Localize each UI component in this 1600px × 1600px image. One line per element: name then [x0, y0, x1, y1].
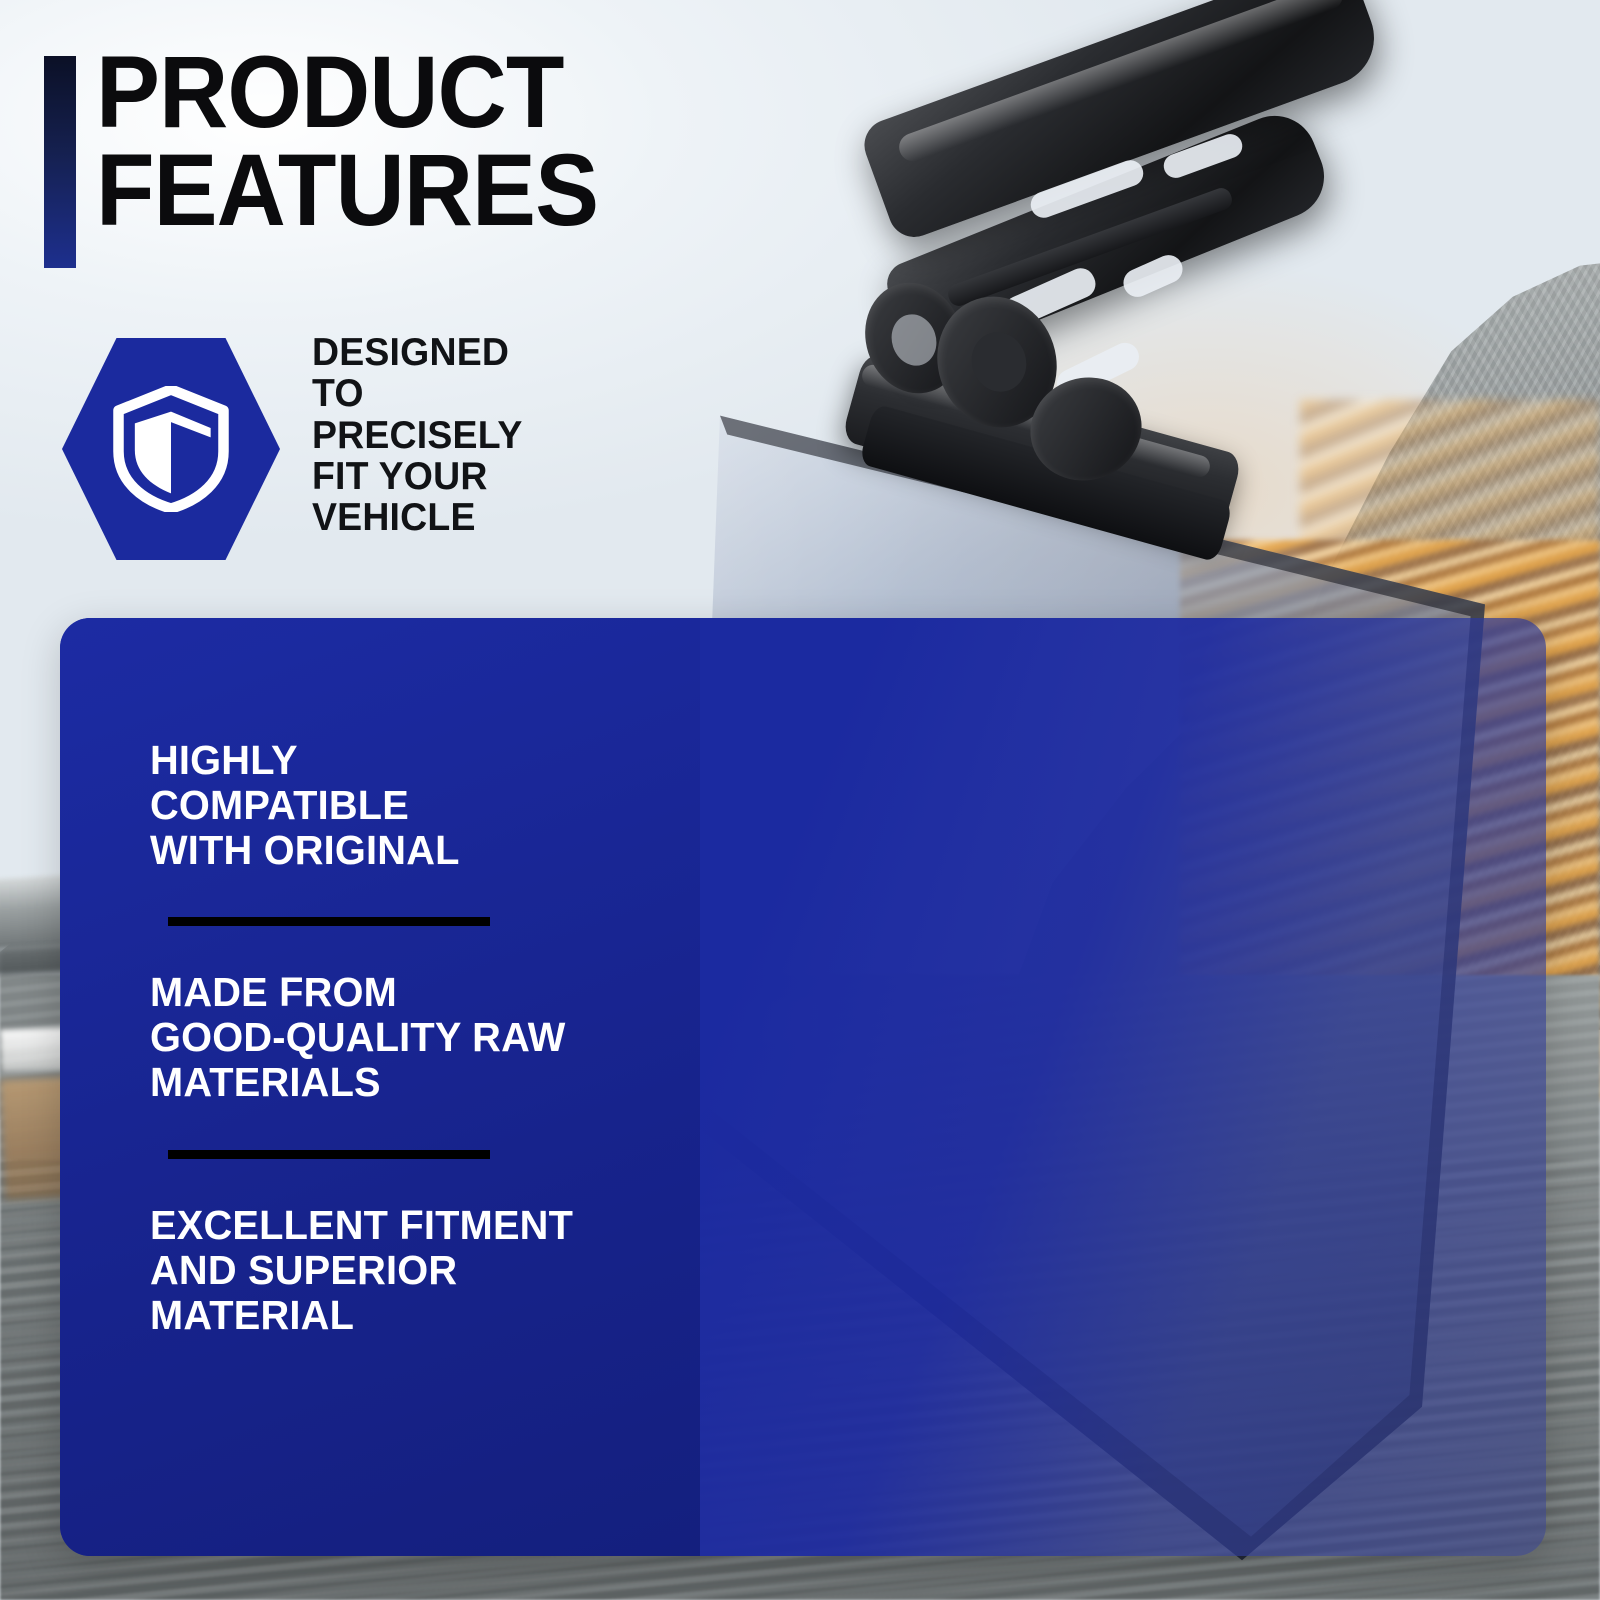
- badge-text: DESIGNED TO PRECISELY FIT YOUR VEHICLE: [312, 332, 629, 539]
- feature-2-line-2: GOOD-QUALITY RAW: [150, 1015, 693, 1060]
- feature-item-1: HIGHLY COMPATIBLE WITH ORIGINAL: [150, 738, 693, 873]
- infographic-canvas: PRODUCT FEATURES DESIGNED TO PRECISELY F…: [0, 0, 1600, 1600]
- shield-icon: [112, 386, 230, 512]
- feature-2-line-3: MATERIALS: [150, 1060, 693, 1105]
- feature-2-line-1: MADE FROM: [150, 970, 693, 1015]
- feature-item-2: MADE FROM GOOD-QUALITY RAW MATERIALS: [150, 970, 693, 1105]
- badge-line-1: DESIGNED: [312, 332, 629, 373]
- page-title-line-1: PRODUCT: [96, 35, 563, 149]
- feature-divider: [168, 917, 490, 926]
- feature-3-line-1: EXCELLENT FITMENT: [150, 1203, 693, 1248]
- feature-1-line-1: HIGHLY: [150, 738, 693, 783]
- feature-1-line-3: WITH ORIGINAL: [150, 828, 693, 873]
- feature-item-3: EXCELLENT FITMENT AND SUPERIOR MATERIAL: [150, 1203, 693, 1338]
- page-title-line-2: FEATURES: [96, 142, 810, 240]
- badge-line-5: VEHICLE: [312, 497, 629, 538]
- title-accent-bar: [44, 56, 76, 268]
- feature-3-line-2: AND SUPERIOR: [150, 1248, 693, 1293]
- badge-line-3: PRECISELY: [312, 415, 629, 456]
- feature-3-line-3: MATERIAL: [150, 1293, 693, 1338]
- feature-1-line-2: COMPATIBLE: [150, 783, 693, 828]
- badge-line-2: TO: [312, 373, 629, 414]
- feature-divider: [168, 1150, 490, 1159]
- features-list: HIGHLY COMPATIBLE WITH ORIGINAL MADE FRO…: [150, 738, 710, 1338]
- badge-line-4: FIT YOUR: [312, 456, 629, 497]
- page-title: PRODUCT FEATURES: [96, 44, 810, 240]
